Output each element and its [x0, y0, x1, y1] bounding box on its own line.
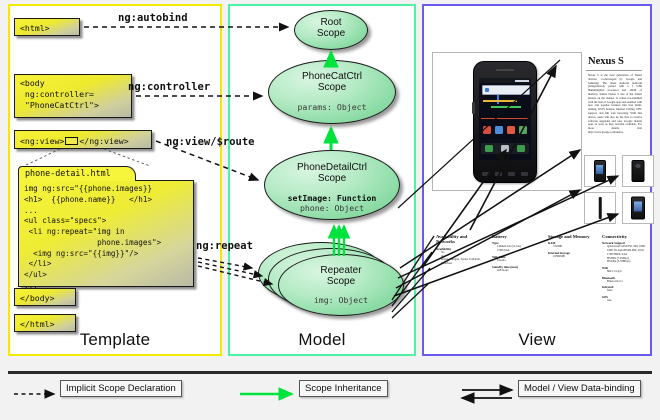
ngview-open-tag: <ng:view> — [20, 136, 64, 146]
scope-repeater: Repeater Scope img: Object — [278, 254, 404, 316]
spec-heading: Connectivity — [602, 234, 646, 239]
spec-column-connectivity: Connectivity Network Support Quad-band G… — [602, 234, 646, 303]
spec-column-storage: Storage and Memory RAM 512MB Internal St… — [548, 234, 600, 259]
edge-label-controller: ng:controller — [128, 81, 210, 93]
phone-dock — [481, 143, 529, 154]
spec-value: false — [602, 289, 646, 293]
panel-model-label: Model — [230, 330, 414, 350]
spec-table: Availability and Networks Availability 3… — [432, 234, 640, 314]
scope-phonedetailctrl: PhoneDetailCtrl Scope setImage: Function… — [264, 150, 400, 220]
diagram-canvas: Template Model View <html> <body ng:cont… — [0, 0, 660, 420]
spec-column-battery: Battery Type Lithium Ion (Li-Ion) 1500 m… — [492, 234, 540, 272]
phone-screen — [479, 78, 531, 160]
code-box-html-open: <html> — [14, 18, 80, 36]
ngview-placeholder-icon — [65, 137, 78, 145]
code-box-ngview: <ng:view></ng:view> — [14, 130, 152, 149]
code-box-html-close: </html> — [14, 314, 76, 332]
rendered-view-page: Nexus S Nexus S is the next generation o… — [430, 12, 644, 332]
legend-item-implicit-scope-declaration: Implicit Scope Declaration — [60, 380, 182, 397]
wallpaper-stripe-green — [491, 106, 521, 108]
spec-value: Orange, Singtel, Sprint, T-Mobile, Vodaf… — [436, 258, 484, 265]
spec-value: 1500 mAh — [492, 249, 540, 253]
note-tab: phone-detail.html — [18, 166, 136, 181]
phone-nav-buttons — [479, 169, 531, 178]
scope-phonecatctrl-prop-params: params: Object — [269, 102, 395, 112]
spec-value: 16384MB — [548, 255, 600, 259]
phone-search-widget — [482, 85, 530, 95]
phone-statusbar — [479, 78, 531, 83]
panel-view-label: View — [424, 330, 650, 350]
spec-value: 512MB — [548, 245, 600, 249]
title-divider — [586, 70, 642, 71]
edge-label-autobind: ng:autobind — [118, 12, 188, 24]
scope-phonecatctrl: PhoneCatCtrl Scope params: Object — [268, 60, 396, 124]
spec-value: true — [602, 299, 646, 303]
spec-value: HSUPA (5.76Mbps) — [602, 260, 646, 264]
phone-speaker — [496, 69, 514, 71]
phone-side-button — [472, 102, 475, 114]
spec-value: Bluetooth 2.1 — [602, 280, 646, 284]
scope-root: Root Scope — [294, 10, 368, 50]
thumbnail-edge[interactable] — [584, 192, 616, 224]
code-box-body-open: <body ng:controller= "PhoneCatCtrl"> — [14, 74, 132, 118]
legend-item-scope-inheritance: Scope Inheritance — [299, 380, 388, 397]
scope-phonedetailctrl-prop-phone: phone: Object — [265, 203, 399, 213]
note-body: img ng:src="{{phone.images}} <h1> {{phon… — [18, 180, 194, 287]
spec-column-availability: Availability and Networks Availability 3… — [436, 234, 484, 266]
product-title: Nexus S — [588, 56, 624, 67]
spec-heading: Availability and Networks — [436, 234, 484, 245]
edge-label-view-route: ng:view/$route — [166, 136, 255, 148]
legend: Implicit Scope Declaration Scope Inherit… — [0, 379, 660, 409]
scope-root-title: Root Scope — [295, 11, 367, 40]
code-box-body-close: </body> — [14, 288, 76, 306]
spec-value: 6 hours — [492, 259, 540, 263]
template-partial-note: img ng:src="{{phone.images}} <h1> {{phon… — [18, 166, 194, 288]
product-description: Nexus S is the next generation of Nexus … — [588, 74, 642, 135]
thumbnail-front[interactable] — [584, 155, 616, 187]
panel-template-label: Template — [10, 330, 220, 350]
wallpaper-stripe-yellow — [483, 100, 517, 102]
legend-divider — [8, 371, 652, 374]
phone-hero-frame — [432, 52, 582, 191]
scope-repeater-title: Repeater Scope — [279, 255, 403, 288]
phone-hero-image — [473, 61, 537, 183]
scope-phonecatctrl-title: PhoneCatCtrl Scope — [269, 61, 395, 94]
edge-label-repeat: ng:repeat — [196, 240, 253, 252]
thumbnail-back[interactable] — [622, 155, 654, 187]
spec-value: 428 hours — [492, 269, 540, 273]
legend-item-model-view-data-binding: Model / View Data-binding — [518, 380, 641, 397]
spec-value: Quad-band GSM 850, 900, 1800, 1900 Tri-b… — [602, 245, 646, 256]
scope-repeater-prop-img: img: Object — [279, 295, 403, 305]
scope-phonedetailctrl-prop-setimage: setImage: Function — [265, 193, 399, 203]
wallpaper-stripe-red — [481, 118, 529, 119]
phone-app-icons — [481, 126, 529, 140]
thumbnail-angle[interactable] — [622, 192, 654, 224]
spec-heading: Storage and Memory — [548, 234, 600, 239]
spec-value: 802.11 b/g/n — [602, 270, 646, 274]
note-title: phone-detail.html — [19, 167, 135, 180]
spec-heading: Battery — [492, 234, 540, 239]
scope-phonedetailctrl-title: PhoneDetailCtrl Scope — [265, 151, 399, 185]
ngview-close-tag: </ng:view> — [79, 136, 128, 146]
